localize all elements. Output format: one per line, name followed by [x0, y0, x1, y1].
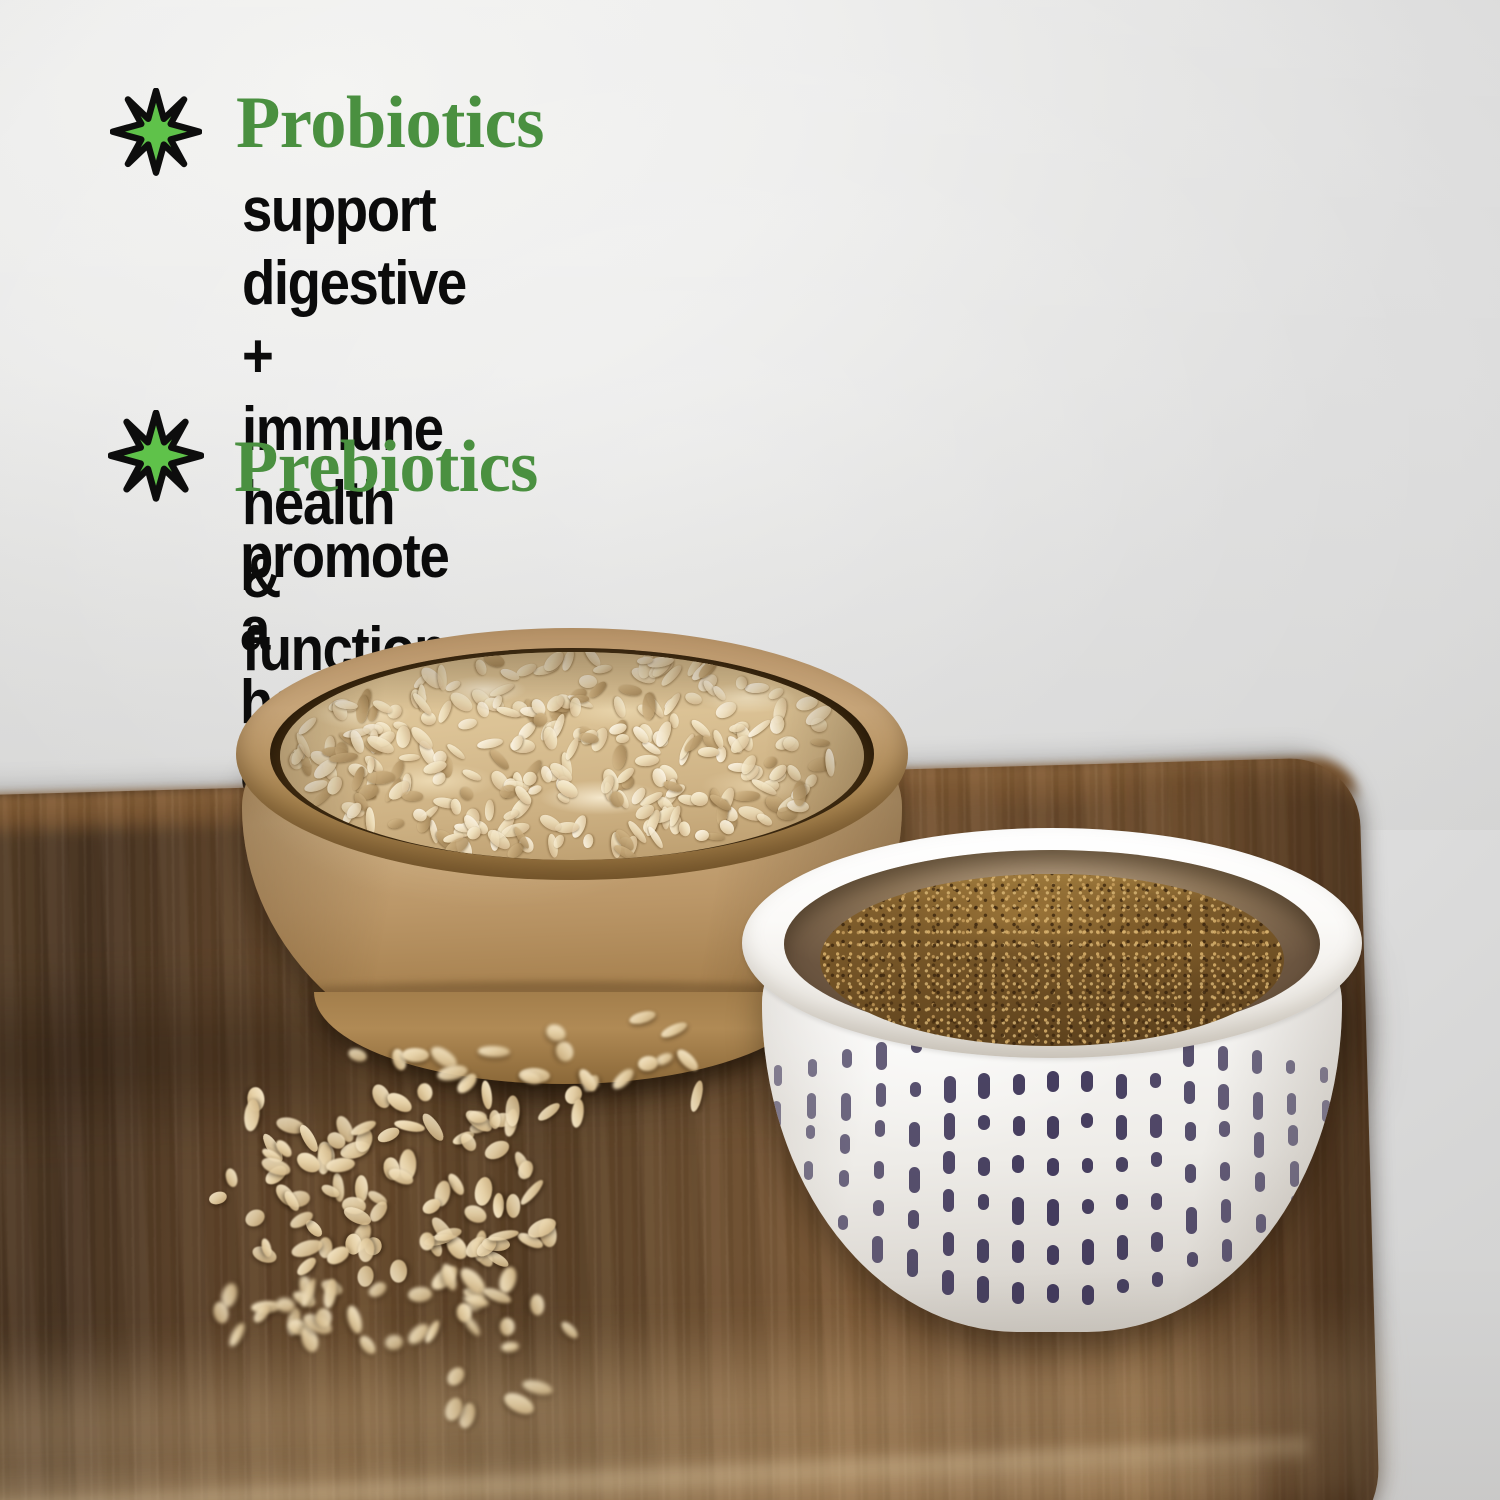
benefit-heading: Probiotics — [236, 86, 544, 160]
ceramic-bowl-of-powder — [742, 828, 1362, 1348]
brown-powder-fill — [820, 874, 1284, 1046]
scattered-oats — [180, 1020, 800, 1420]
product-benefit-graphic: Probiotics support digestive + immune he… — [0, 0, 1500, 1500]
benefits-copy-block: Probiotics support digestive + immune he… — [0, 0, 1500, 620]
eight-point-star-icon — [110, 88, 202, 180]
eight-point-star-icon — [108, 410, 204, 506]
product-photo — [0, 560, 1500, 1500]
dashed-stripe-pattern — [762, 1012, 1342, 1332]
powder-granules — [820, 874, 1284, 1046]
benefit-heading: Prebiotics — [234, 430, 538, 504]
